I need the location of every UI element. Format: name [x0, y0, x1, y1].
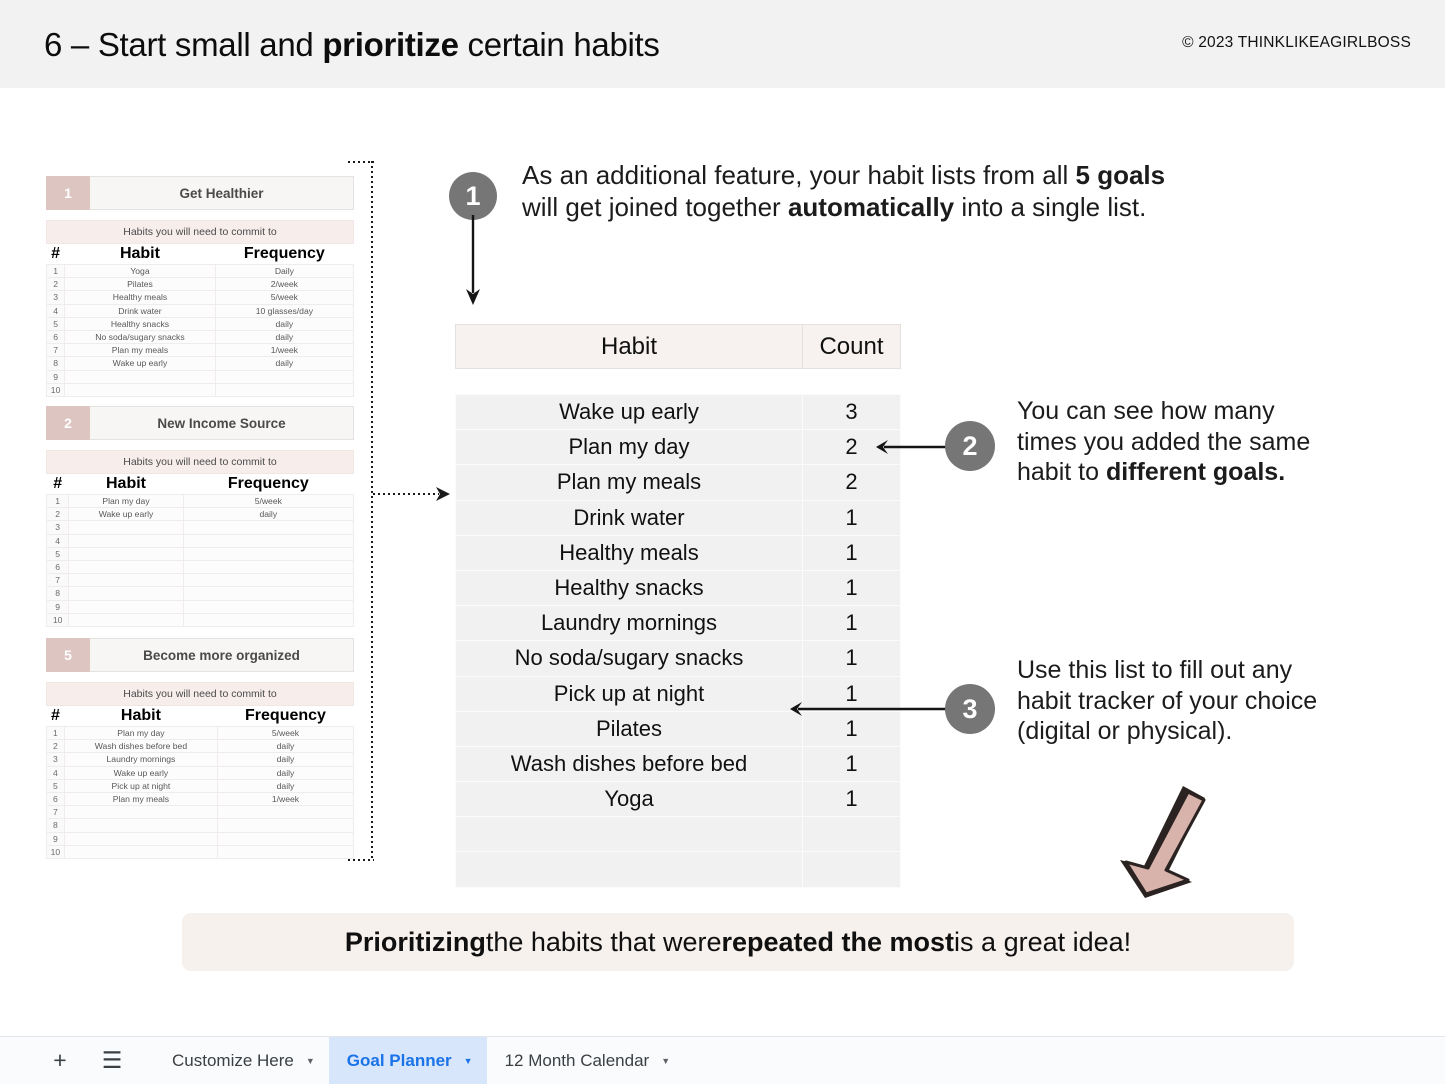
column-header-index: # — [47, 244, 65, 265]
row-index: 10 — [47, 845, 65, 858]
row-index: 5 — [47, 317, 65, 330]
sheet-tab-label: Goal Planner — [347, 1051, 452, 1071]
row-index: 5 — [47, 547, 69, 560]
callout-2-line-3b: different goals. — [1106, 458, 1285, 486]
goal-habit-row: 10 — [47, 383, 354, 396]
habit-row: No soda/sugary snacks1 — [456, 641, 901, 676]
goal-habit-row: 8Wake up earlydaily — [47, 357, 354, 370]
goal-habit-row: 9 — [47, 832, 354, 845]
commit-label: Habits you will need to commit to — [47, 451, 354, 474]
row-frequency[interactable]: daily — [217, 779, 353, 792]
row-index: 3 — [47, 753, 65, 766]
page-title-emphasis: prioritize — [322, 26, 458, 63]
callout-1-line-2b: automatically — [788, 192, 954, 222]
banner-bold-2: repeated the most — [721, 927, 954, 958]
goal-number-badge: 2 — [46, 406, 90, 440]
goal-card-header: 2 New Income Source — [46, 406, 354, 440]
goal-name-label: Become more organized — [90, 638, 354, 672]
row-index: 8 — [47, 587, 69, 600]
habit-row: Healthy snacks1 — [456, 570, 901, 605]
row-index: 6 — [47, 560, 69, 573]
row-habit[interactable]: Plan my meals — [65, 344, 216, 357]
row-habit[interactable]: Drink water — [65, 304, 216, 317]
row-frequency[interactable] — [183, 534, 353, 547]
sheet-tabs-group: Customize Here▼Goal Planner▼12 Month Cal… — [154, 1037, 684, 1084]
habit-name-cell[interactable]: Laundry mornings — [456, 606, 803, 641]
goal-habit-row: 2Pilates2/week — [47, 278, 354, 291]
row-frequency[interactable] — [217, 832, 353, 845]
row-habit empty-habit[interactable] — [69, 613, 183, 626]
goal-habit-row: 8 — [47, 819, 354, 832]
callout-badge-2: 2 — [945, 421, 995, 471]
row-habit empty-habit[interactable] — [69, 560, 183, 573]
goal-habit-row: 4Wake up earlydaily — [47, 766, 354, 779]
banner-tail: is a great idea! — [954, 927, 1131, 958]
callout-1-line-2c: into a single list. — [954, 192, 1146, 222]
goal-card-5: 5 Become more organized Habits you will … — [46, 638, 354, 859]
row-frequency[interactable] — [183, 587, 353, 600]
goal-habit-row: 3 — [47, 521, 354, 534]
sheet-tab-bar: + ☰ Customize Here▼Goal Planner▼12 Month… — [0, 1036, 1445, 1084]
row-index: 9 — [47, 370, 65, 383]
habit-table-header: HabitCount — [455, 324, 901, 369]
row-habit empty-habit[interactable] — [69, 574, 183, 587]
callout-2-line-3: habit to different goals. — [1017, 457, 1417, 488]
row-index: 9 — [47, 832, 65, 845]
dotted-connector-bottom — [348, 859, 374, 861]
row-habit[interactable]: Wash dishes before bed — [64, 740, 217, 753]
column-header-frequency: Frequency — [183, 474, 353, 495]
row-habit empty-habit[interactable] — [69, 547, 183, 560]
row-habit[interactable]: Plan my meals — [64, 792, 217, 805]
callout-3-line-3: (digital or physical). — [1017, 716, 1437, 747]
habit-count-cell[interactable]: 2 — [803, 465, 901, 500]
callout-text-3: Use this list to fill out any habit trac… — [1017, 655, 1437, 747]
chevron-down-icon[interactable]: ▼ — [464, 1056, 473, 1066]
row-habit empty-habit[interactable] — [69, 587, 183, 600]
row-frequency[interactable]: daily — [183, 508, 353, 521]
habit-name-cell[interactable]: Plan my meals — [456, 465, 803, 500]
sheet-tab-customize-here[interactable]: Customize Here▼ — [154, 1037, 329, 1084]
habit-count-cell[interactable]: 1 — [803, 500, 901, 535]
callout-badge-3: 3 — [945, 684, 995, 734]
callout-3-line-1: Use this list to fill out any — [1017, 655, 1437, 686]
habit-name-cell[interactable] — [456, 852, 803, 887]
count-column-header: Count — [803, 325, 901, 369]
row-habit empty-habit[interactable] — [65, 383, 216, 396]
plus-icon[interactable]: + — [38, 1037, 82, 1084]
row-frequency[interactable]: 10 glasses/day — [215, 304, 353, 317]
goal-habit-row: 5Healthy snacksdaily — [47, 317, 354, 330]
row-frequency[interactable]: daily — [217, 766, 353, 779]
row-frequency[interactable] — [215, 370, 353, 383]
habit-row: Healthy meals1 — [456, 535, 901, 570]
goal-number-badge: 1 — [46, 176, 90, 210]
row-habit empty-habit[interactable] — [69, 534, 183, 547]
callout-1-line-1b: 5 goals — [1076, 160, 1166, 190]
row-index: 1 — [47, 495, 69, 508]
goal-card-2: 2 New Income Source Habits you will need… — [46, 406, 354, 627]
row-frequency[interactable] — [183, 521, 353, 534]
row-frequency[interactable]: daily — [217, 753, 353, 766]
callout-3-line-2: habit tracker of your choice — [1017, 686, 1437, 717]
row-habit empty-habit[interactable] — [69, 600, 183, 613]
habit-column-header: Habit — [456, 325, 803, 369]
row-habit empty-habit[interactable] — [64, 832, 217, 845]
habit-name-cell[interactable]: Yoga — [456, 782, 803, 817]
row-frequency[interactable]: 1/week — [217, 792, 353, 805]
column-header-frequency: Frequency — [217, 706, 353, 727]
callout-2-line-1: You can see how many — [1017, 396, 1417, 427]
goal-habit-row: 2Wake up earlydaily — [47, 508, 354, 521]
row-index: 7 — [47, 574, 69, 587]
page-title-suffix: certain habits — [459, 26, 660, 63]
habit-name-cell[interactable]: Pick up at night — [456, 676, 803, 711]
row-frequency[interactable]: daily — [215, 330, 353, 343]
habit-table-header-row: HabitCount — [456, 325, 901, 369]
row-habit[interactable]: Plan my day — [64, 727, 217, 740]
row-habit empty-habit[interactable] — [64, 819, 217, 832]
commit-label: Habits you will need to commit to — [47, 221, 354, 244]
row-habit[interactable]: Laundry mornings — [64, 753, 217, 766]
row-index: 7 — [47, 806, 65, 819]
habit-name-cell[interactable] — [456, 817, 803, 852]
row-index: 10 — [47, 383, 65, 396]
chevron-down-icon[interactable]: ▼ — [661, 1056, 670, 1066]
row-frequency[interactable] — [183, 547, 353, 560]
row-index: 3 — [47, 521, 69, 534]
row-index: 10 — [47, 613, 69, 626]
goal-card-header: 5 Become more organized — [46, 638, 354, 672]
slide-canvas: 6 – Start small and prioritize certain h… — [0, 0, 1445, 1084]
goal-habit-row: 3Healthy meals5/week — [47, 291, 354, 304]
callout-2-line-2: times you added the same — [1017, 427, 1417, 458]
row-index: 7 — [47, 344, 65, 357]
row-habit[interactable]: Wake up early — [69, 508, 183, 521]
goal-habit-row: 10 — [47, 845, 354, 858]
commit-label: Habits you will need to commit to — [47, 683, 354, 706]
row-frequency[interactable]: 5/week — [215, 291, 353, 304]
goal-column-header-row: #HabitFrequency — [47, 474, 354, 495]
habit-name-cell[interactable]: Healthy snacks — [456, 570, 803, 605]
habit-count-cell[interactable]: 3 — [803, 395, 901, 430]
sheet-tab-label: Customize Here — [172, 1051, 294, 1071]
goal-table-body: Habits you will need to commit to#HabitF… — [47, 683, 354, 859]
row-index: 3 — [47, 291, 65, 304]
callout-text-1: As an additional feature, your habit lis… — [522, 160, 1342, 223]
goal-habit-row: 4 — [47, 534, 354, 547]
row-habit empty-habit[interactable] — [69, 521, 183, 534]
goal-name-label: New Income Source — [90, 406, 354, 440]
habit-table-body-wrap: Wake up early3Plan my day2Plan my meals2… — [455, 394, 901, 888]
callout-arrow-3 — [790, 698, 955, 720]
row-frequency[interactable]: Daily — [215, 265, 353, 278]
row-index: 2 — [47, 278, 65, 291]
row-index: 5 — [47, 779, 65, 792]
row-frequency[interactable]: daily — [215, 317, 353, 330]
habit-table-body: Wake up early3Plan my day2Plan my meals2… — [456, 395, 901, 888]
banner-mid: the habits that were — [486, 927, 722, 958]
row-index: 6 — [47, 792, 65, 805]
row-habit[interactable]: Plan my day — [69, 495, 183, 508]
callout-1-line-2a: will get joined together — [522, 192, 788, 222]
goal-habit-row: 3Laundry morningsdaily — [47, 753, 354, 766]
row-habit empty-habit[interactable] — [64, 806, 217, 819]
goal-column-header-row: #HabitFrequency — [47, 244, 354, 265]
habit-count-cell[interactable]: 1 — [803, 782, 901, 817]
row-frequency[interactable]: 5/week — [183, 495, 353, 508]
all-sheets-icon[interactable]: ☰ — [90, 1037, 134, 1084]
row-habit empty-habit[interactable] — [64, 845, 217, 858]
habit-name-cell[interactable]: Drink water — [456, 500, 803, 535]
row-index: 8 — [47, 357, 65, 370]
commit-label-row: Habits you will need to commit to — [47, 221, 354, 244]
goal-habit-row: 8 — [47, 587, 354, 600]
row-frequency[interactable] — [217, 845, 353, 858]
goal-card-header: 1 Get Healthier — [46, 176, 354, 210]
goal-habit-row: 9 — [47, 370, 354, 383]
column-header-index: # — [47, 474, 69, 495]
column-header-habit: Habit — [69, 474, 183, 495]
habit-row — [456, 817, 901, 852]
chevron-down-icon[interactable]: ▼ — [306, 1056, 315, 1066]
habit-name-cell[interactable]: Wash dishes before bed — [456, 746, 803, 781]
habit-header-row: HabitCount — [456, 325, 901, 369]
goal-habit-row: 10 — [47, 613, 354, 626]
dotted-connector-vertical — [371, 161, 373, 861]
row-frequency[interactable]: 5/week — [217, 727, 353, 740]
copyright-text: © 2023 THINKLIKEAGIRLBOSS — [1182, 34, 1411, 52]
row-index: 4 — [47, 304, 65, 317]
goal-habit-row: 4Drink water10 glasses/day — [47, 304, 354, 317]
column-header-habit: Habit — [65, 244, 216, 265]
callout-2-line-3a: habit to — [1017, 458, 1106, 486]
goal-column-header-row: #HabitFrequency — [47, 706, 354, 727]
goal-habits-table: Habits you will need to commit to#HabitF… — [46, 450, 354, 627]
goal-habit-row: 7 — [47, 806, 354, 819]
callout-text-2: You can see how many times you added the… — [1017, 396, 1417, 488]
goal-habit-row: 6Plan my meals1/week — [47, 792, 354, 805]
goal-habits-table: Habits you will need to commit to#HabitF… — [46, 220, 354, 397]
page-title-prefix: 6 – Start small and — [44, 26, 322, 63]
callout-badge-1: 1 — [449, 172, 497, 220]
goal-table-body: Habits you will need to commit to#HabitF… — [47, 221, 354, 397]
goal-habit-row: 1Plan my day5/week — [47, 495, 354, 508]
callout-1-line-1: As an additional feature, your habit lis… — [522, 160, 1342, 192]
habit-count-cell[interactable]: 1 — [803, 606, 901, 641]
dotted-connector-arrowhead — [434, 483, 456, 505]
habit-name-cell[interactable]: Plan my day — [456, 430, 803, 465]
row-habit[interactable]: Healthy snacks — [65, 317, 216, 330]
row-habit empty-habit[interactable] — [65, 370, 216, 383]
row-habit[interactable]: No soda/sugary snacks — [65, 330, 216, 343]
habit-count-cell[interactable]: 1 — [803, 641, 901, 676]
goal-habit-row: 5Pick up at nightdaily — [47, 779, 354, 792]
row-index: 2 — [47, 508, 69, 521]
goal-habit-row: 6No soda/sugary snacksdaily — [47, 330, 354, 343]
habit-name-cell[interactable]: No soda/sugary snacks — [456, 641, 803, 676]
banner-bold-1: Prioritizing — [345, 927, 486, 958]
goal-name-label: Get Healthier — [90, 176, 354, 210]
habit-row: Wake up early3 — [456, 395, 901, 430]
habit-row: Laundry mornings1 — [456, 606, 901, 641]
goal-habit-row: 5 — [47, 547, 354, 560]
sheet-tab-12-month-calendar[interactable]: 12 Month Calendar▼ — [487, 1037, 685, 1084]
row-frequency[interactable]: 1/week — [215, 344, 353, 357]
habit-count-cell[interactable] — [803, 852, 901, 887]
goal-habit-row: 1Plan my day5/week — [47, 727, 354, 740]
row-index: 8 — [47, 819, 65, 832]
callout-arrow-2 — [876, 436, 956, 458]
goal-habit-row: 1YogaDaily — [47, 265, 354, 278]
page-title: 6 – Start small and prioritize certain h… — [44, 26, 660, 64]
row-index: 1 — [47, 727, 65, 740]
row-frequency[interactable] — [183, 574, 353, 587]
habit-row: Wash dishes before bed1 — [456, 746, 901, 781]
row-frequency[interactable] — [215, 383, 353, 396]
habit-row: Yoga1 — [456, 782, 901, 817]
row-index: 9 — [47, 600, 69, 613]
row-frequency[interactable] — [183, 600, 353, 613]
down-left-arrow-icon — [1100, 782, 1230, 902]
habit-count-cell[interactable]: 1 — [803, 746, 901, 781]
commit-label-row: Habits you will need to commit to — [47, 683, 354, 706]
goal-table-body: Habits you will need to commit to#HabitF… — [47, 451, 354, 627]
habit-name-cell[interactable]: Wake up early — [456, 395, 803, 430]
row-frequency[interactable]: 2/week — [215, 278, 353, 291]
row-frequency[interactable] — [183, 613, 353, 626]
habit-row: Drink water1 — [456, 500, 901, 535]
sheet-tab-label: 12 Month Calendar — [505, 1051, 650, 1071]
row-habit[interactable]: Wake up early — [64, 766, 217, 779]
row-index: 4 — [47, 766, 65, 779]
row-habit[interactable]: Healthy meals — [65, 291, 216, 304]
row-frequency[interactable]: daily — [217, 740, 353, 753]
commit-label-row: Habits you will need to commit to — [47, 451, 354, 474]
habit-name-cell[interactable]: Healthy meals — [456, 535, 803, 570]
goal-number-badge: 5 — [46, 638, 90, 672]
habit-row — [456, 852, 901, 887]
goal-habits-table: Habits you will need to commit to#HabitF… — [46, 682, 354, 859]
goal-habit-row: 2Wash dishes before beddaily — [47, 740, 354, 753]
row-frequency[interactable] — [183, 560, 353, 573]
row-habit[interactable]: Yoga — [65, 265, 216, 278]
column-header-index: # — [47, 706, 65, 727]
goal-card-1: 1 Get Healthier Habits you will need to … — [46, 176, 354, 397]
habit-row: Plan my meals2 — [456, 465, 901, 500]
dotted-connector-arrow-line — [373, 493, 439, 495]
goal-habit-row: 6 — [47, 560, 354, 573]
habit-row: Plan my day2 — [456, 430, 901, 465]
row-habit[interactable]: Pilates — [65, 278, 216, 291]
summary-banner: Prioritizing the habits that were repeat… — [182, 913, 1294, 971]
column-header-frequency: Frequency — [215, 244, 353, 265]
habit-name-cell[interactable]: Pilates — [456, 711, 803, 746]
callout-arrow-1 — [462, 215, 484, 307]
row-index: 6 — [47, 330, 65, 343]
row-index: 4 — [47, 534, 69, 547]
column-header-habit: Habit — [64, 706, 217, 727]
sheet-tab-goal-planner[interactable]: Goal Planner▼ — [329, 1037, 487, 1084]
habit-count-cell[interactable] — [803, 817, 901, 852]
goal-habit-row: 9 — [47, 600, 354, 613]
row-habit[interactable]: Wake up early — [65, 357, 216, 370]
habit-count-cell[interactable]: 1 — [803, 535, 901, 570]
row-frequency[interactable] — [217, 819, 353, 832]
row-habit[interactable]: Pick up at night — [64, 779, 217, 792]
row-frequency[interactable]: daily — [215, 357, 353, 370]
goal-habit-row: 7Plan my meals1/week — [47, 344, 354, 357]
goal-habit-row: 7 — [47, 574, 354, 587]
row-frequency[interactable] — [217, 806, 353, 819]
row-index: 2 — [47, 740, 65, 753]
callout-1-line-1a: As an additional feature, your habit lis… — [522, 160, 1076, 190]
habit-count-cell[interactable]: 1 — [803, 570, 901, 605]
callout-1-line-2: will get joined together automatically i… — [522, 192, 1342, 224]
row-index: 1 — [47, 265, 65, 278]
